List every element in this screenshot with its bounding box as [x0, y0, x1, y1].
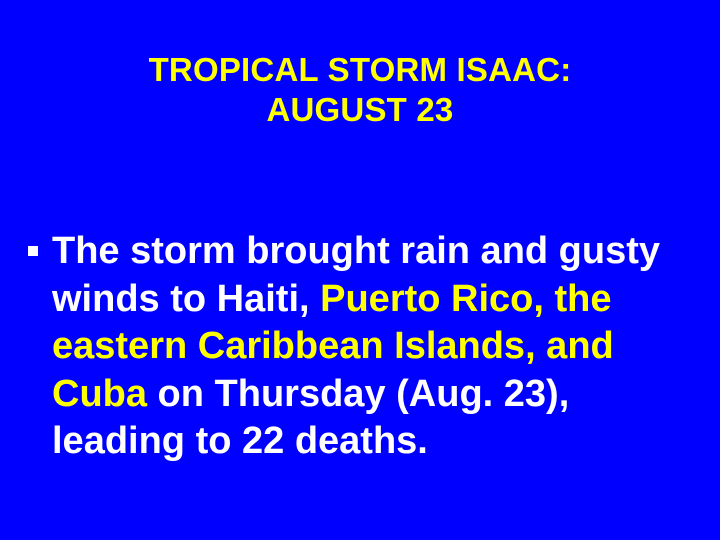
slide-title: TROPICAL STORM ISAAC: AUGUST 23	[0, 50, 720, 130]
slide-body: The storm brought rain and gusty winds t…	[26, 228, 690, 466]
title-line-2: AUGUST 23	[0, 90, 720, 130]
bullet-item-text: The storm brought rain and gusty winds t…	[52, 228, 690, 466]
square-bullet-icon	[28, 246, 38, 256]
bullet-list-item: The storm brought rain and gusty winds t…	[26, 228, 690, 466]
slide-canvas: TROPICAL STORM ISAAC: AUGUST 23 The stor…	[0, 0, 720, 540]
title-line-1: TROPICAL STORM ISAAC:	[0, 50, 720, 90]
